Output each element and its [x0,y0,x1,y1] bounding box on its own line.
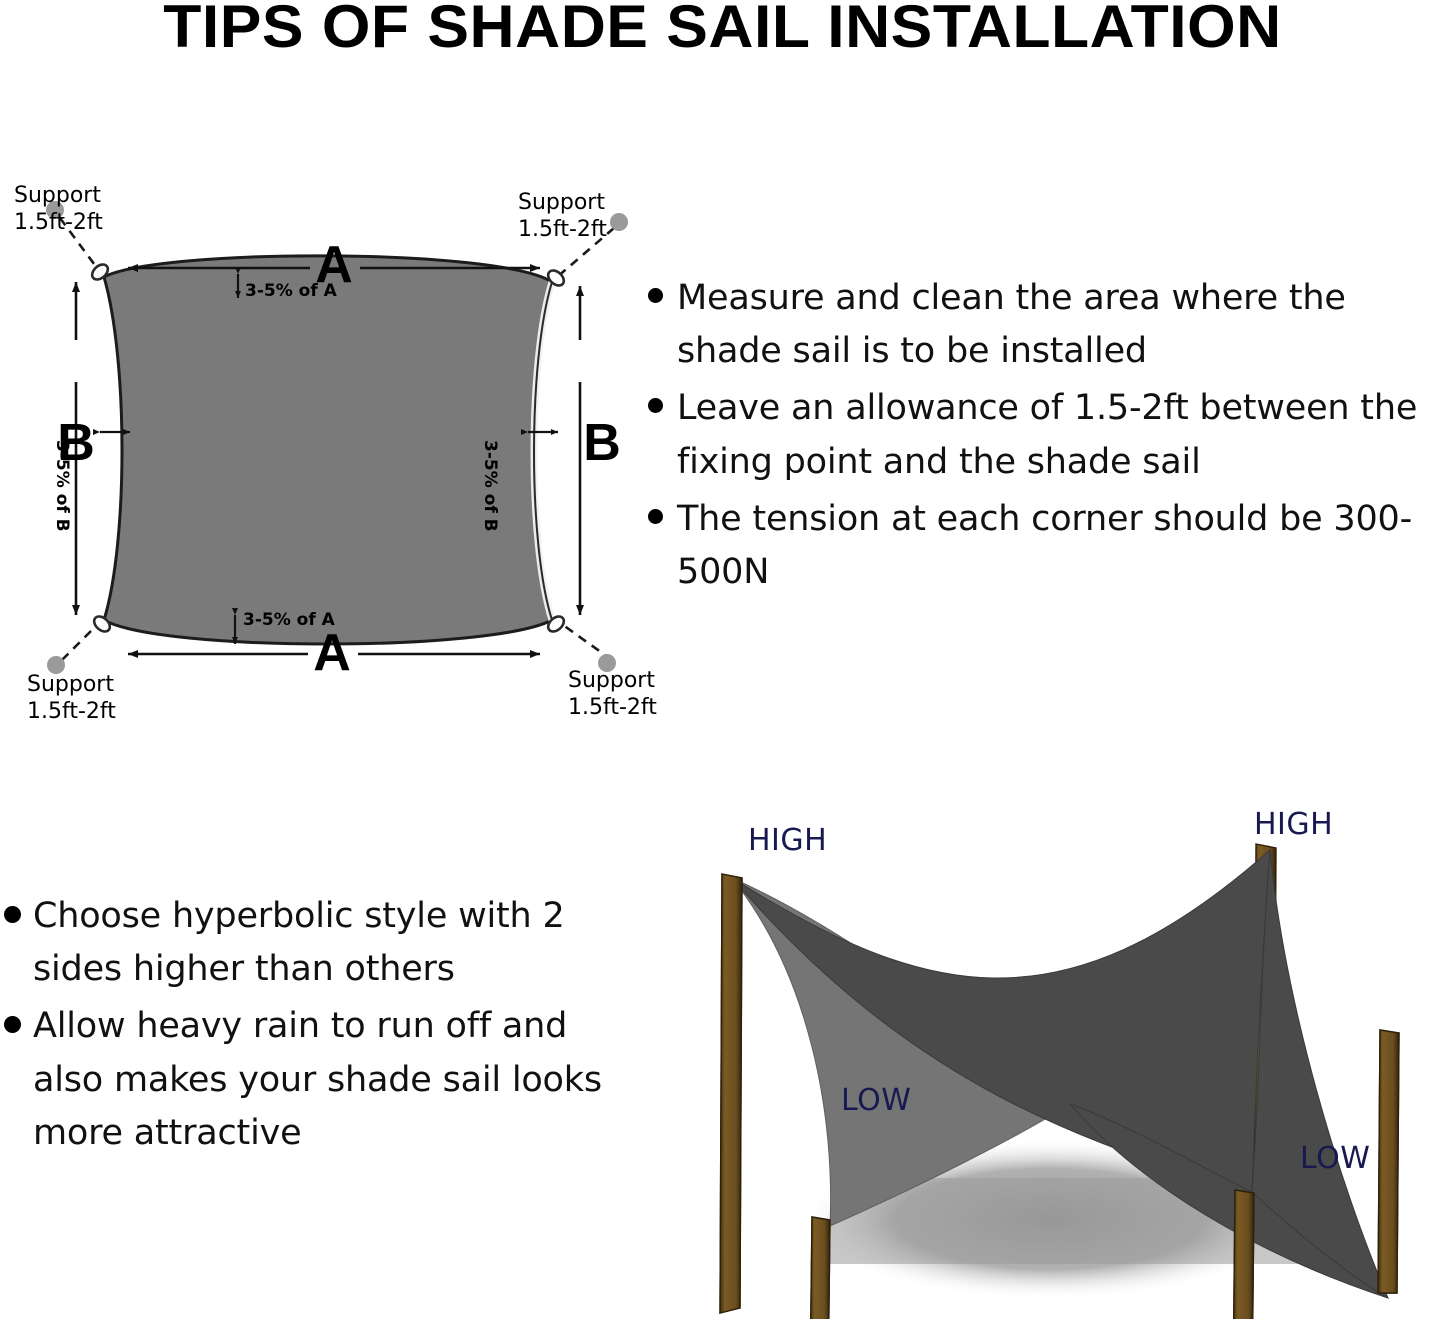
dim-label-a-bottom: A [313,624,351,682]
post-low-inner-right-front [1233,1190,1254,1319]
tip-text: Leave an allowance of 1.5-2ft between th… [677,382,1445,488]
list-item: Choose hyperbolic style with 2 sides hig… [4,890,624,996]
tips-list-left: Choose hyperbolic style with 2 sides hig… [4,890,624,1164]
support-label-line1: Support [27,672,116,699]
support-label-bottom-left: Support 1.5ft-2ft [27,672,116,726]
support-label-line2: 1.5ft-2ft [14,210,103,237]
label-low-left: LOW [841,1083,911,1118]
support-label-top-left: Support 1.5ft-2ft [14,183,103,237]
hyperbolic-sail-diagram [660,786,1445,1319]
tip-text: The tension at each corner should be 300… [677,493,1445,599]
tip-text: Choose hyperbolic style with 2 sides hig… [33,890,624,996]
post-high-left-front [720,874,742,1313]
tip-text: Allow heavy rain to run off and also mak… [33,1000,624,1160]
list-item: Measure and clean the area where the sha… [648,272,1445,378]
dim-label-b-right: B [583,414,621,472]
page-title: TIPS OF SHADE SAIL INSTALLATION [0,0,1445,61]
bullet-dot-icon [648,288,663,303]
curve-label-bottom: 3-5% of A [243,610,335,630]
support-label-top-right: Support 1.5ft-2ft [518,190,607,244]
label-high-left: HIGH [748,823,827,858]
bullet-dot-icon [4,1016,21,1033]
support-label-line1: Support [14,183,103,210]
list-item: The tension at each corner should be 300… [648,493,1445,599]
bullet-dot-icon [4,906,21,923]
tips-list-right: Measure and clean the area where the sha… [648,272,1445,603]
rectangular-sail-diagram: A A B B [0,160,660,740]
post-low-left-front [810,1217,830,1319]
post-low-right-front [1378,1030,1399,1293]
list-item: Leave an allowance of 1.5-2ft between th… [648,382,1445,488]
support-label-line2: 1.5ft-2ft [568,695,657,722]
support-label-bottom-right: Support 1.5ft-2ft [568,668,657,722]
tip-text: Measure and clean the area where the sha… [677,272,1445,378]
label-low-right: LOW [1300,1141,1370,1176]
support-label-line2: 1.5ft-2ft [518,217,607,244]
label-high-right: HIGH [1254,807,1333,842]
curve-label-top: 3-5% of A [245,281,337,301]
curve-label-right: 3-5% of B [480,440,500,532]
bullet-dot-icon [648,398,663,413]
support-label-line2: 1.5ft-2ft [27,699,116,726]
support-label-line1: Support [518,190,607,217]
bullet-dot-icon [648,509,663,524]
support-label-line1: Support [568,668,657,695]
curve-label-left: 3-5% of B [52,440,72,532]
list-item: Allow heavy rain to run off and also mak… [4,1000,624,1160]
